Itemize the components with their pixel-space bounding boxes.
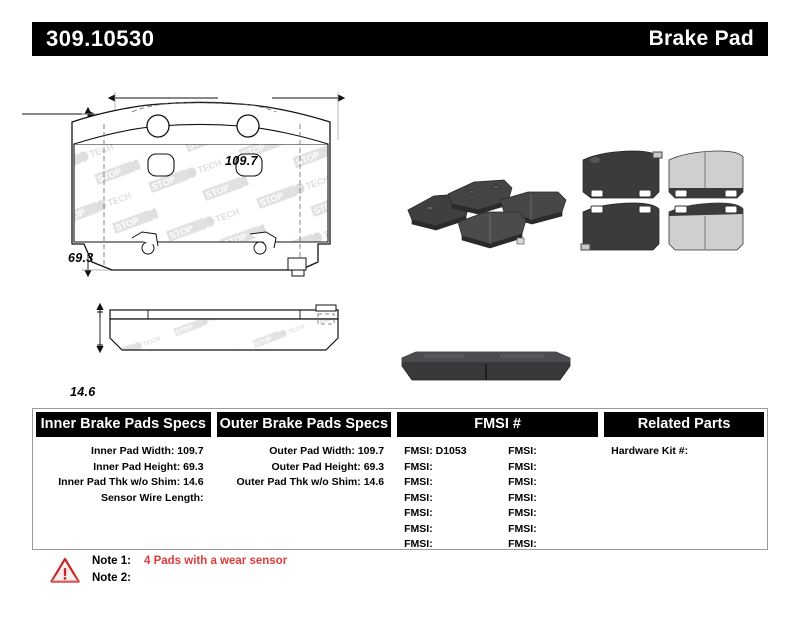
fmsi-label: FMSI:: [508, 445, 537, 457]
inner-pad-height-label: Inner Pad Height:: [93, 461, 180, 473]
table-row: FMSI: FMSI:: [404, 506, 601, 522]
pad-face-view: [72, 102, 330, 276]
dimension-height-label: 69.3: [68, 251, 94, 265]
table-row: FMSI: D1053 FMSI:: [404, 444, 601, 460]
fmsi-label: FMSI:: [404, 492, 433, 504]
fmsi-label: FMSI:: [508, 461, 537, 473]
inner-pad-width-label: Inner Pad Width:: [91, 445, 174, 457]
table-row: Inner Pad Thk w/o Shim: 14.6: [33, 475, 214, 491]
product-type: Brake Pad: [649, 27, 754, 51]
inner-pad-thickness-label: Inner Pad Thk w/o Shim:: [58, 476, 180, 488]
hardware-kit-label: Hardware Kit #:: [611, 445, 688, 457]
inner-pad-width-value: 109.7: [177, 445, 203, 457]
brake-pad-edge-photo: [396, 338, 576, 396]
warning-triangle-icon: [50, 557, 80, 583]
fmsi-label: FMSI:: [404, 461, 433, 473]
table-row: Outer Pad Height: 69.3: [214, 460, 395, 476]
pad-edge-view: [110, 305, 338, 350]
fmsi-column: FMSI # FMSI: D1053 FMSI: FMSI: FMSI: FMS…: [394, 409, 601, 549]
fmsi-label: FMSI:: [404, 538, 433, 550]
note-1-value: 4 Pads with a wear sensor: [144, 553, 287, 570]
table-row: Outer Pad Width: 109.7: [214, 444, 395, 460]
specifications-table: Inner Brake Pads Specs Inner Pad Width: …: [32, 408, 768, 550]
fmsi-label: FMSI:: [508, 476, 537, 488]
fmsi-label: FMSI:: [404, 445, 433, 457]
notes-section: Note 1: 4 Pads with a wear sensor Note 2…: [50, 553, 550, 587]
related-parts-column: Related Parts Hardware Kit #:: [601, 409, 767, 549]
four-brake-pads-photo: [400, 158, 572, 250]
inner-pad-thickness-value: 14.6: [183, 476, 203, 488]
note-2-line: Note 2:: [92, 570, 550, 587]
fmsi-label: FMSI:: [404, 507, 433, 519]
table-row: FMSI: FMSI:: [404, 491, 601, 507]
table-row: FMSI: FMSI:: [404, 522, 601, 538]
table-row: Inner Pad Width: 109.7: [33, 444, 214, 460]
note-2-label: Note 2:: [92, 570, 144, 587]
outer-pad-height-label: Outer Pad Height:: [272, 461, 361, 473]
outer-pad-width-label: Outer Pad Width:: [269, 445, 355, 457]
inner-pad-height-value: 69.3: [183, 461, 203, 473]
fmsi-value: D1053: [436, 445, 467, 457]
table-row: FMSI: FMSI:: [404, 475, 601, 491]
dimension-width-label: 109.7: [225, 154, 258, 168]
fmsi-label: FMSI:: [404, 476, 433, 488]
technical-drawing-area: STOP TECH STOP STOP TECH: [0, 62, 800, 392]
related-parts-header: Related Parts: [604, 412, 764, 437]
note-1-line: Note 1: 4 Pads with a wear sensor: [92, 553, 550, 570]
outer-specs-header: Outer Brake Pads Specs: [217, 412, 392, 437]
table-row: Sensor Wire Length:: [33, 491, 214, 507]
outer-pad-thickness-label: Outer Pad Thk w/o Shim:: [237, 476, 361, 488]
outer-specs-column: Outer Brake Pads Specs Outer Pad Width: …: [214, 409, 395, 549]
page-header-bar: 309.10530 Brake Pad: [32, 22, 768, 56]
inner-specs-header: Inner Brake Pads Specs: [36, 412, 211, 437]
table-row: FMSI: FMSI:: [404, 460, 601, 476]
fmsi-label: FMSI:: [508, 507, 537, 519]
table-row: Inner Pad Height: 69.3: [33, 460, 214, 476]
note-1-label: Note 1:: [92, 553, 144, 570]
table-row: Outer Pad Thk w/o Shim: 14.6: [214, 475, 395, 491]
part-number: 309.10530: [46, 26, 155, 52]
fmsi-label: FMSI:: [508, 523, 537, 535]
outer-pad-thickness-value: 14.6: [364, 476, 384, 488]
sensor-wire-length-label: Sensor Wire Length:: [101, 492, 204, 504]
table-row: FMSI: FMSI:: [404, 537, 601, 553]
fmsi-header: FMSI #: [397, 412, 598, 437]
inner-specs-column: Inner Brake Pads Specs Inner Pad Width: …: [33, 409, 214, 549]
dimension-thickness-label: 14.6: [70, 385, 96, 399]
outer-pad-height-value: 69.3: [364, 461, 384, 473]
fmsi-label: FMSI:: [508, 538, 537, 550]
table-row: Hardware Kit #:: [611, 444, 767, 460]
fmsi-label: FMSI:: [508, 492, 537, 504]
fmsi-label: FMSI:: [404, 523, 433, 535]
brake-pads-front-back-photo: [575, 148, 745, 258]
outer-pad-width-value: 109.7: [358, 445, 384, 457]
